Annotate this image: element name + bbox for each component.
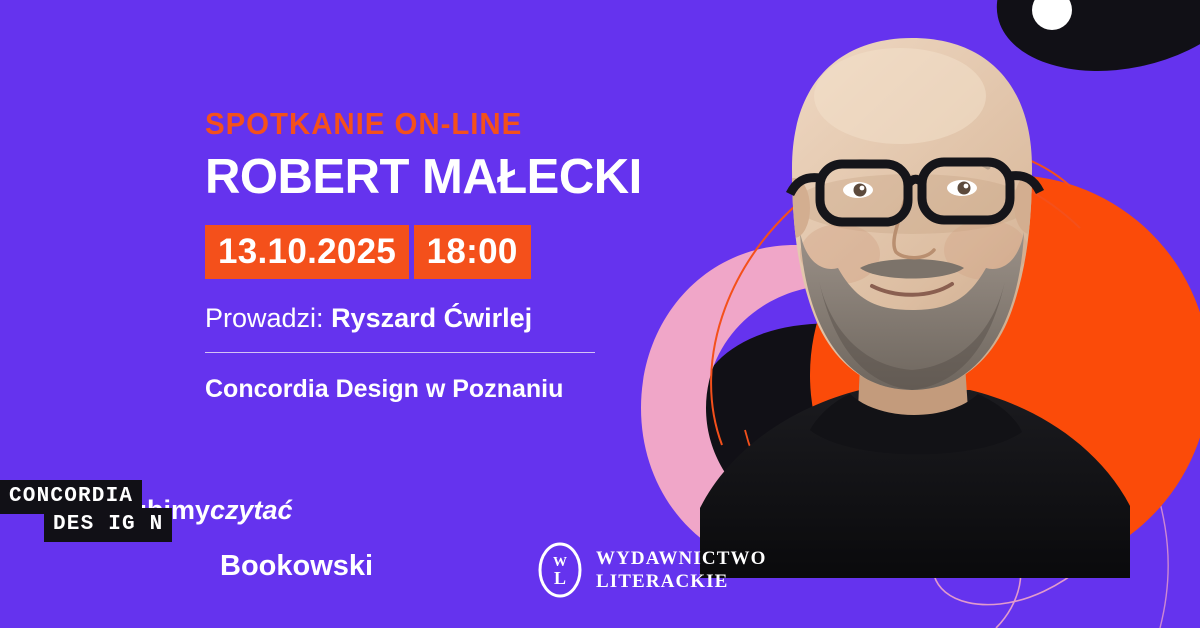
datetime-block: 13.10.2025 18:00 bbox=[205, 225, 675, 279]
time-badge: 18:00 bbox=[414, 225, 531, 279]
speaker-portrait bbox=[700, 18, 1130, 578]
partner-logos: lubimyczytać CONCORDIA DES IG N Bookowsk… bbox=[0, 480, 700, 610]
logo-concordia-line2: DES IG N bbox=[44, 508, 172, 542]
logo-bookowski[interactable]: Bookowski bbox=[220, 552, 373, 581]
logo-wl-line2: LITERACKIE bbox=[596, 571, 728, 592]
speaker-name: ROBERT MAŁECKI bbox=[205, 153, 675, 203]
wl-monogram-icon: W L bbox=[538, 542, 582, 598]
event-text-column: SPOTKANIE ON-LINE ROBERT MAŁECKI 13.10.2… bbox=[205, 108, 675, 402]
logo-bookowski-text: Bookowski bbox=[220, 552, 373, 581]
kicker-label: SPOTKANIE ON-LINE bbox=[205, 108, 652, 139]
logo-wydawnictwo-literackie[interactable]: W L WYDAWNICTWO LITERACKIE bbox=[538, 542, 766, 598]
logo-wl-line1: WYDAWNICTWO bbox=[596, 548, 766, 569]
logo-wl-text: WYDAWNICTWO LITERACKIE bbox=[596, 547, 766, 593]
logo-concordia-design[interactable]: CONCORDIA DES IG N bbox=[0, 480, 200, 540]
host-label: Prowadzi: bbox=[205, 303, 331, 333]
logo-lubimyczytac-part2: czytać bbox=[210, 495, 293, 525]
date-badge: 13.10.2025 bbox=[205, 225, 409, 279]
host-name: Ryszard Ćwirlej bbox=[331, 303, 532, 333]
venue-name: Concordia Design w Poznaniu bbox=[205, 377, 675, 402]
host-line: Prowadzi: Ryszard Ćwirlej bbox=[205, 305, 675, 332]
event-poster: SPOTKANIE ON-LINE ROBERT MAŁECKI 13.10.2… bbox=[0, 0, 1200, 628]
svg-text:L: L bbox=[554, 568, 566, 588]
divider-rule bbox=[205, 352, 595, 353]
